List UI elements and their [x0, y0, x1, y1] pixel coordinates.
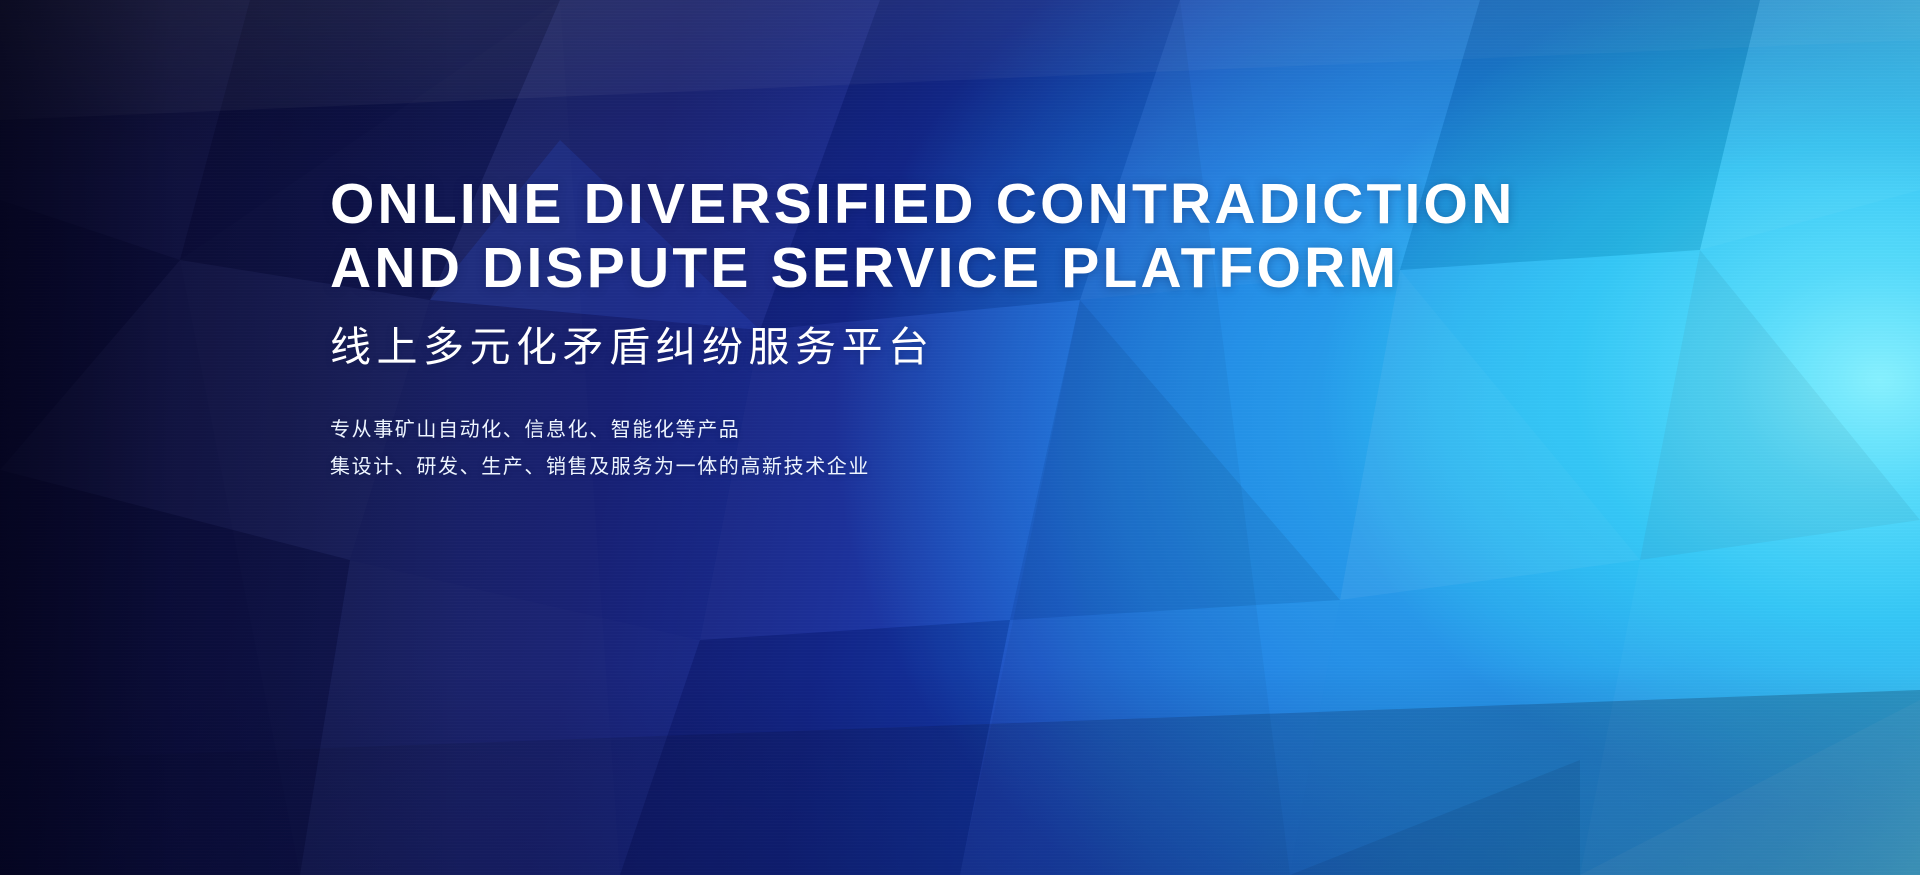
description-line-2: 集设计、研发、生产、销售及服务为一体的高新技术企业 [330, 449, 1630, 486]
description-line-1: 专从事矿山自动化、信息化、智能化等产品 [330, 412, 1630, 449]
banner-copy: ONLINE DIVERSIFIED CONTRADICTION AND DIS… [330, 172, 1630, 486]
hero-banner: ONLINE DIVERSIFIED CONTRADICTION AND DIS… [0, 0, 1920, 875]
subheading-chinese: 线上多元化矛盾纠纷服务平台 [330, 322, 1630, 372]
headline-line-1: ONLINE DIVERSIFIED CONTRADICTION [330, 172, 1630, 236]
headline-line-2: AND DISPUTE SERVICE PLATFORM [330, 236, 1630, 300]
